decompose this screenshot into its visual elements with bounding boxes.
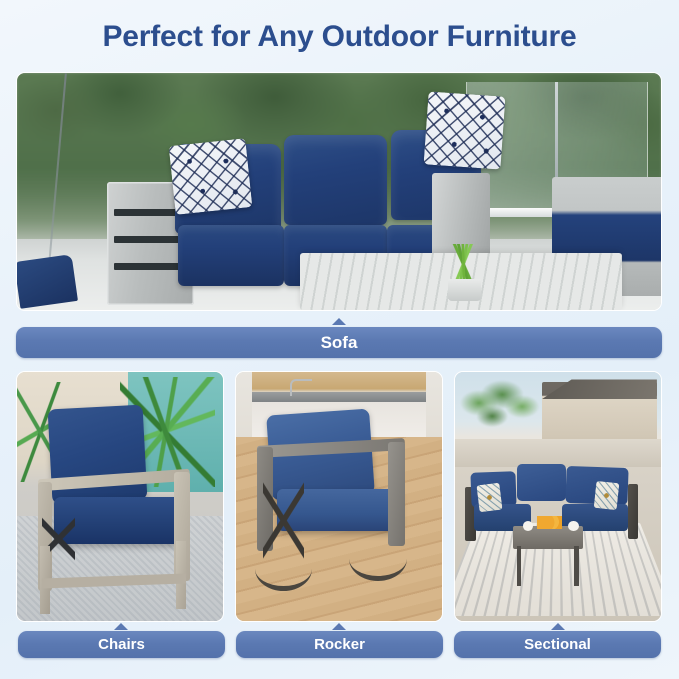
chairs-scene (17, 372, 223, 621)
sectional-tree (459, 379, 541, 439)
photo-sectional (454, 371, 662, 622)
faucet-icon (290, 379, 313, 396)
sectional-accent-pillow (594, 480, 619, 510)
sectional-scene (455, 372, 661, 621)
throw-pillow (168, 138, 252, 214)
potted-plant-foliage (432, 244, 496, 284)
hero-photo-sofa (16, 72, 662, 311)
rocker-right-runner (349, 536, 407, 581)
armrest-slat (114, 236, 187, 243)
coffee-table-leg (517, 546, 521, 586)
photo-chairs (16, 371, 224, 622)
photo-rocker (235, 371, 443, 622)
armrest-slat (114, 263, 187, 270)
potted-plant-pot (448, 279, 480, 300)
rocker-right-arm (388, 442, 404, 547)
caption-chairs-label: Chairs (98, 637, 145, 652)
sofa-back-cushion (284, 135, 387, 225)
fruit-bowl (537, 516, 562, 528)
caption-pointer-sofa (332, 318, 346, 325)
coffee-cup (568, 521, 578, 531)
rocker-left-runner (255, 546, 313, 591)
rocker-countertop (252, 392, 425, 402)
caption-rocker[interactable]: Rocker (236, 631, 443, 658)
coffee-table-leg (574, 546, 578, 586)
sofa-scene (17, 73, 661, 310)
sectional-accent-pillow (476, 483, 502, 513)
hero-left-cushion (16, 254, 78, 309)
product-feature-page: Perfect for Any Outdoor Furniture (0, 0, 679, 679)
page-title: Perfect for Any Outdoor Furniture (0, 17, 679, 57)
throw-pillow (423, 92, 505, 171)
caption-chairs[interactable]: Chairs (18, 631, 225, 658)
sectional-back-cushion (517, 464, 566, 501)
rocker-scene (236, 372, 442, 621)
caption-sofa-label: Sofa (321, 334, 358, 351)
sofa-seat-cushion (178, 225, 284, 287)
sectional-privacy-wall (455, 439, 661, 466)
caption-pointer-chairs (114, 623, 128, 630)
caption-sofa[interactable]: Sofa (16, 327, 662, 358)
sectional-right-frame (628, 484, 638, 539)
caption-rocker-label: Rocker (314, 637, 365, 652)
caption-sectional-label: Sectional (524, 637, 591, 652)
caption-pointer-rocker (332, 623, 346, 630)
caption-pointer-sectional (551, 623, 565, 630)
caption-sectional[interactable]: Sectional (454, 631, 661, 658)
